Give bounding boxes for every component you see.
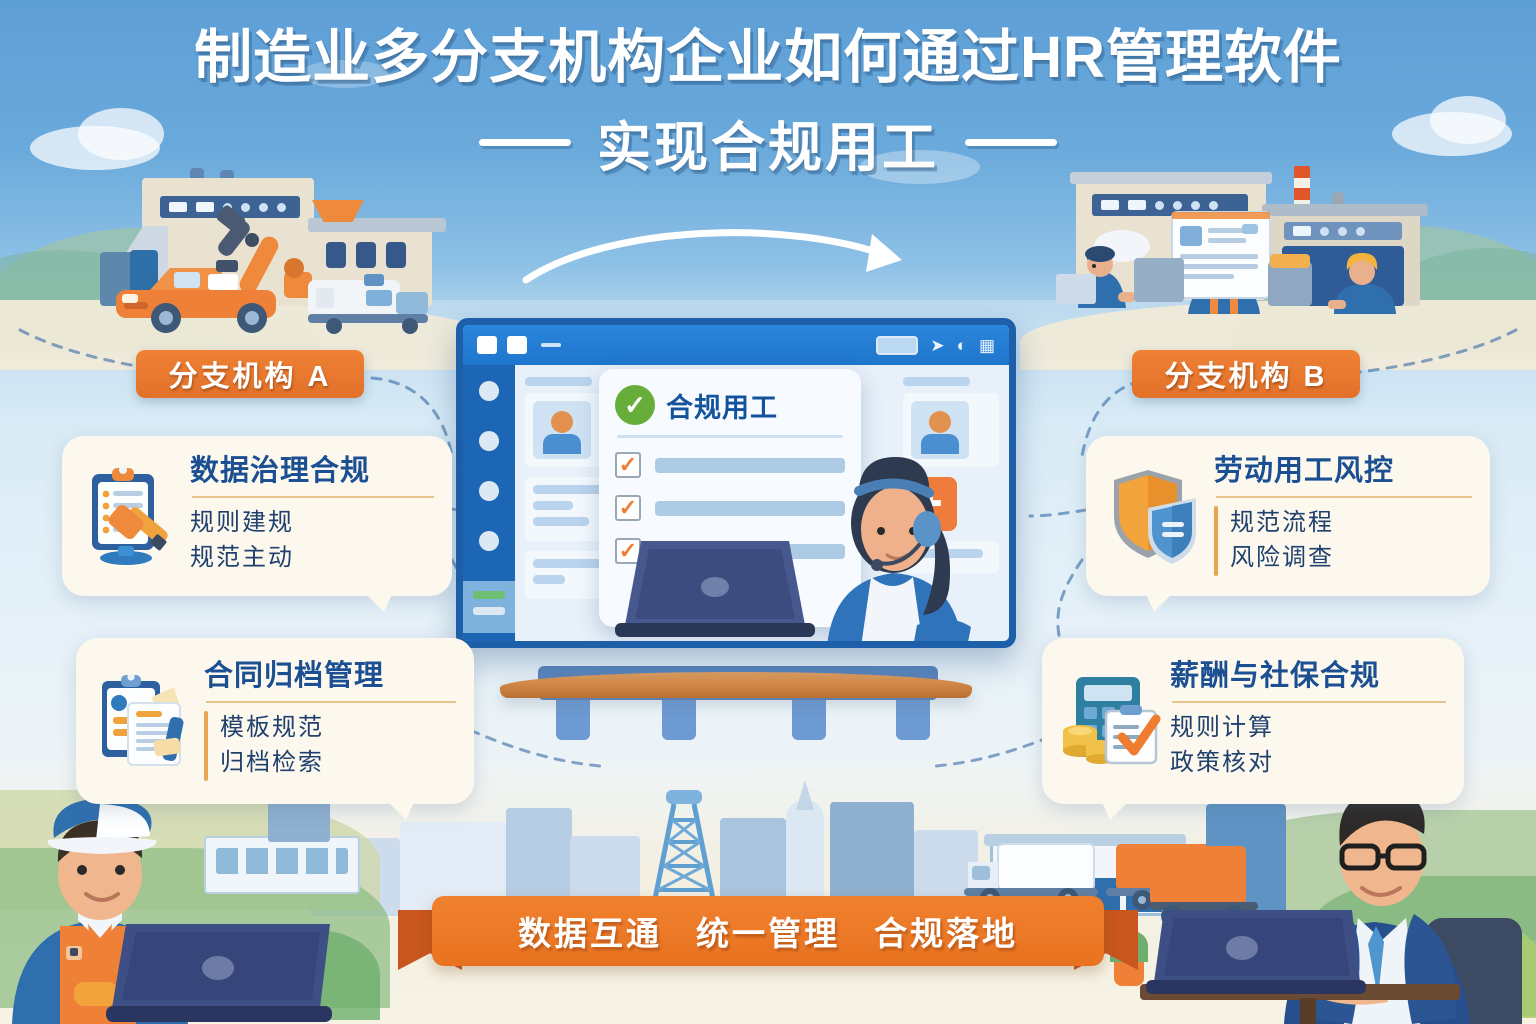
annex-window-2 xyxy=(356,242,376,268)
card-sub-texts: 规范流程 风险调查 xyxy=(1230,506,1334,576)
card-sub-texts: 规则计算 政策核对 xyxy=(1170,711,1274,781)
title-line-1: 制造业多分支机构企业如何通过HR管理软件 xyxy=(0,28,1536,89)
card-sub-texts: 模板规范 归档检索 xyxy=(220,711,324,781)
info-card-top-left[interactable]: 数据治理合规 规则建规 规范主动 xyxy=(62,436,452,596)
avatar xyxy=(533,401,591,459)
scene-businessman-laptop xyxy=(1180,780,1536,1024)
sidebar-dot-3[interactable] xyxy=(479,481,499,501)
clipboard-documents-icon xyxy=(94,669,198,773)
info-card-bottom-right[interactable]: 薪酬与社保合规 规则计算 政策核对 xyxy=(1042,638,1464,804)
placeholder-line xyxy=(903,377,970,386)
app-toolbar: ➤ ◐ ▦ xyxy=(463,325,1009,365)
worker-right xyxy=(1324,244,1408,316)
worker-laptop-icon xyxy=(106,920,336,1024)
equipment-contents xyxy=(1270,254,1310,268)
card-heading: 劳动用工风控 xyxy=(1214,456,1472,488)
ribbon-body: 数据互通 统一管理 合规落地 xyxy=(432,896,1104,966)
curved-arrow-right xyxy=(520,218,920,298)
clipboard-gavel-icon xyxy=(80,464,184,568)
desk-surface xyxy=(500,672,972,698)
businessman-laptop-icon xyxy=(1146,906,1366,1002)
placeholder-line xyxy=(533,501,573,510)
placeholder-line xyxy=(533,559,605,568)
card-sub-1: 规则计算 xyxy=(1170,711,1274,746)
card-heading: 薪酬与社保合规 xyxy=(1170,661,1446,693)
title-rule-right xyxy=(965,139,1057,146)
placeholder-line xyxy=(533,517,589,526)
sidebar-active-item[interactable] xyxy=(463,581,515,633)
sidebar-dot-1[interactable] xyxy=(479,381,499,401)
card-divider xyxy=(206,701,456,703)
card-sub-list: 模板规范 归档检索 xyxy=(204,711,456,781)
desk-leg-left xyxy=(556,696,590,740)
page-title: 制造业多分支机构企业如何通过HR管理软件 实现合规用工 xyxy=(0,28,1536,182)
dual-shield-icon xyxy=(1104,464,1208,568)
ribbon-phrase-1: 数据互通 xyxy=(518,907,662,955)
card-tail xyxy=(384,798,416,820)
card-body: 合同归档管理 模板规范 归档检索 xyxy=(198,661,456,780)
card-body: 薪酬与社保合规 规则计算 政策核对 xyxy=(1164,661,1446,780)
annex-window-3 xyxy=(386,242,406,268)
send-icon[interactable]: ➤ xyxy=(930,337,944,354)
card-sub-2: 规范主动 xyxy=(190,541,294,576)
droplet-icon[interactable]: ◐ xyxy=(957,337,967,354)
branch-badge-b[interactable]: 分支机构 B xyxy=(1132,350,1360,398)
card-sub-list: 规则计算 政策核对 xyxy=(1170,711,1446,781)
green-check-icon: ✓ xyxy=(615,385,655,425)
scene-worker-laptop xyxy=(0,780,360,1024)
card-sub-1: 规范流程 xyxy=(1230,506,1334,541)
toolbar-right-group: ➤ ◐ ▦ xyxy=(876,336,995,355)
pallet xyxy=(1056,274,1096,304)
orange-check-icon[interactable]: ✓ xyxy=(615,495,641,521)
sidebar-dot-4[interactable] xyxy=(479,531,499,551)
desk-leg-mid-right xyxy=(792,696,826,740)
card-sub-list: 规范流程 风险调查 xyxy=(1214,506,1472,576)
infographic-canvas: 制造业多分支机构企业如何通过HR管理软件 实现合规用工 分支机构 A 分支机构 … xyxy=(0,0,1536,1024)
title-line-2: 实现合规用工 xyxy=(597,103,939,182)
warehouse-roof xyxy=(1262,204,1428,216)
scene-right-factory xyxy=(1056,166,1472,342)
title-rule-left xyxy=(479,139,571,146)
card-divider xyxy=(1216,496,1472,498)
minimize-icon[interactable] xyxy=(541,343,561,347)
laptop-icon xyxy=(615,535,815,641)
white-machine xyxy=(306,272,436,334)
orange-check-icon[interactable]: ✓ xyxy=(615,452,641,478)
bottom-ribbon: 数据互通 统一管理 合规落地 xyxy=(398,896,1138,982)
branch-badge-a[interactable]: 分支机构 A xyxy=(136,350,364,398)
equipment-box-1 xyxy=(1134,258,1184,302)
card-sub-list: 规则建规 规范主动 xyxy=(190,506,434,576)
warehouse-window-band xyxy=(1284,222,1402,240)
equipment-box-2 xyxy=(1268,262,1312,306)
placeholder-line xyxy=(533,575,565,584)
card-sub-2: 风险调查 xyxy=(1230,541,1334,576)
desk-leg-mid-left xyxy=(662,696,696,740)
pill-button-icon[interactable] xyxy=(876,336,918,355)
card-sub-1: 模板规范 xyxy=(220,711,324,746)
card-accent-bar xyxy=(1214,506,1218,576)
card-divider xyxy=(1172,701,1446,703)
info-card-bottom-left[interactable]: 合同归档管理 模板规范 归档检索 xyxy=(76,638,474,804)
card-divider xyxy=(192,496,434,498)
window-icon[interactable] xyxy=(477,336,497,354)
card-tail xyxy=(1100,798,1132,820)
dialog-title: 合规用工 xyxy=(666,386,778,425)
card-sub-2: 政策核对 xyxy=(1170,746,1274,781)
card-tail xyxy=(362,590,394,612)
card-body: 劳动用工风控 规范流程 风险调查 xyxy=(1208,456,1472,575)
info-card-top-right[interactable]: 劳动用工风控 规范流程 风险调查 xyxy=(1086,436,1490,596)
card-heading: 合同归档管理 xyxy=(204,661,456,693)
card-sub-texts: 规则建规 规范主动 xyxy=(190,506,294,576)
card-tail xyxy=(1144,590,1176,612)
grid-icon[interactable]: ▦ xyxy=(979,337,995,354)
ribbon-phrase-2: 统一管理 xyxy=(696,907,840,955)
square-icon[interactable] xyxy=(507,336,527,354)
annex-window-1 xyxy=(326,242,346,268)
orange-truck xyxy=(112,260,292,336)
placeholder-line xyxy=(533,485,605,494)
card-heading: 数据治理合规 xyxy=(190,456,434,488)
monitor-screen: ➤ ◐ ▦ xyxy=(463,325,1009,641)
sidebar-dot-2[interactable] xyxy=(479,431,499,451)
calculator-coins-icon xyxy=(1060,669,1164,773)
hr-software-monitor[interactable]: ➤ ◐ ▦ xyxy=(456,318,1016,648)
card-sub-2: 归档检索 xyxy=(220,746,324,781)
app-sidebar[interactable] xyxy=(463,365,515,641)
card-accent-bar xyxy=(204,711,208,781)
card-body: 数据治理合规 规则建规 规范主动 xyxy=(184,456,434,575)
title-line-2-row: 实现合规用工 xyxy=(0,103,1536,182)
scene-left-factory xyxy=(70,168,470,340)
ribbon-phrase-3: 合规落地 xyxy=(874,907,1018,955)
desk-leg-right xyxy=(896,696,930,740)
card-sub-1: 规则建规 xyxy=(190,506,294,541)
placeholder-line xyxy=(525,377,592,386)
